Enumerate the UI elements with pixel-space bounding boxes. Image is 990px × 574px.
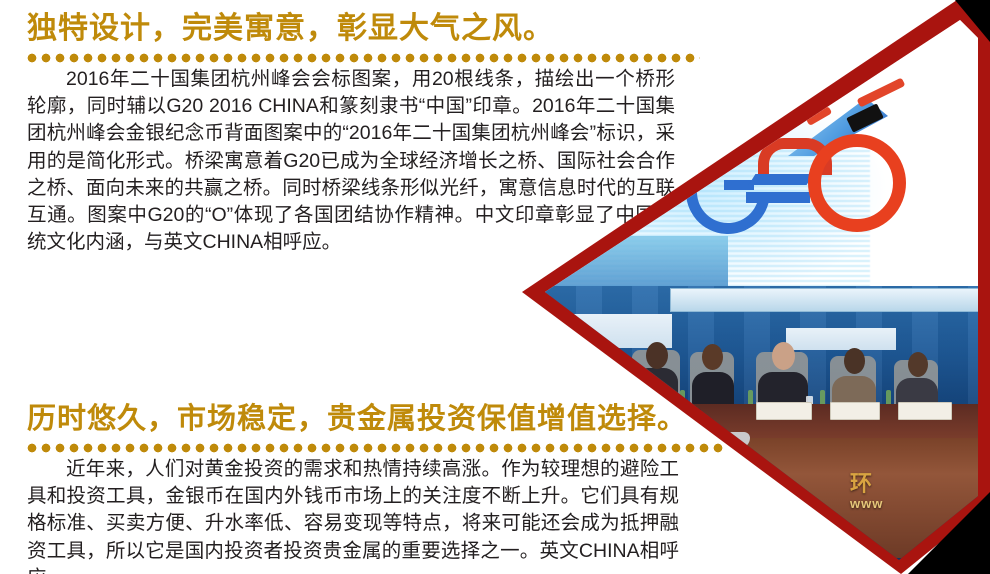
section-body: 2016年二十国集团杭州峰会会标图案，用20根线条，描绘出一个桥形轮廓，同时辅以… xyxy=(0,66,675,256)
paragraph: 2016年二十国集团杭州峰会会标图案，用20根线条，描绘出一个桥形轮廓，同时辅以… xyxy=(27,66,675,256)
delegate-head xyxy=(844,348,865,374)
chair xyxy=(894,360,938,408)
delegate-head xyxy=(646,342,668,369)
paragraph: 近年来，人们对黄金投资的需求和热情持续高涨。作为较理想的避险工具和投资工具，金银… xyxy=(27,456,679,574)
delegate-head xyxy=(702,344,723,370)
logo-flag-shape xyxy=(788,98,888,156)
logo-digit-two-arc xyxy=(758,138,832,175)
logo-digit-two-base xyxy=(746,192,810,203)
section-market-stability: 历时悠久，市场稳定，贵金属投资保值增值选择。 近年来，人们对黄金投资的需求和热情… xyxy=(0,400,700,574)
water-bottle xyxy=(820,390,825,406)
delegate xyxy=(832,376,876,410)
logo-digit-zero xyxy=(808,134,906,232)
poster-page: 独特设计，完美寓意，彰显大气之风。 2016年二十国集团杭州峰会会标图案，用20… xyxy=(0,0,990,574)
logo-red-accent xyxy=(806,106,833,126)
delegate-nameplate xyxy=(830,402,880,420)
logo-red-bar xyxy=(857,77,906,107)
logo-letter-g-bar xyxy=(724,180,754,190)
water-bottle xyxy=(748,390,753,406)
delegate-head xyxy=(908,352,928,377)
logo-black-bar xyxy=(846,103,884,132)
section-heading: 历时悠久，市场稳定，贵金属投资保值增值选择。 xyxy=(0,400,700,438)
delegate-head xyxy=(772,342,795,370)
microphone xyxy=(726,432,750,448)
gold-dotted-divider xyxy=(27,52,700,64)
watermark-url-text: www xyxy=(850,496,990,511)
g20-logo-icon xyxy=(680,92,910,242)
gold-dotted-divider xyxy=(27,442,727,454)
delegate-nameplate xyxy=(756,402,812,420)
delegate xyxy=(896,378,938,410)
section-body: 近年来，人们对黄金投资的需求和热情持续高涨。作为较理想的避险工具和投资工具，金银… xyxy=(0,456,679,574)
drinking-glass xyxy=(806,396,813,406)
logo-digit-two-diagonal xyxy=(749,174,814,185)
delegate xyxy=(758,372,808,410)
backdrop-screen xyxy=(670,288,990,312)
water-bottle xyxy=(886,390,891,406)
chair xyxy=(756,352,808,408)
section-heading: 独特设计，完美寓意，彰显大气之风。 xyxy=(0,10,700,48)
section-design-meaning: 独特设计，完美寓意，彰显大气之风。 2016年二十国集团杭州峰会会标图案，用20… xyxy=(0,10,700,256)
backdrop-stripes xyxy=(520,286,990,406)
backdrop-panel-left xyxy=(556,314,672,348)
photo-watermark: 环 www xyxy=(850,472,990,511)
delegate-nameplate xyxy=(898,402,952,420)
backdrop-panel-right xyxy=(786,328,896,350)
chair xyxy=(830,356,876,408)
delegate-head xyxy=(580,356,600,380)
watermark-cn-text: 环 xyxy=(850,472,990,496)
